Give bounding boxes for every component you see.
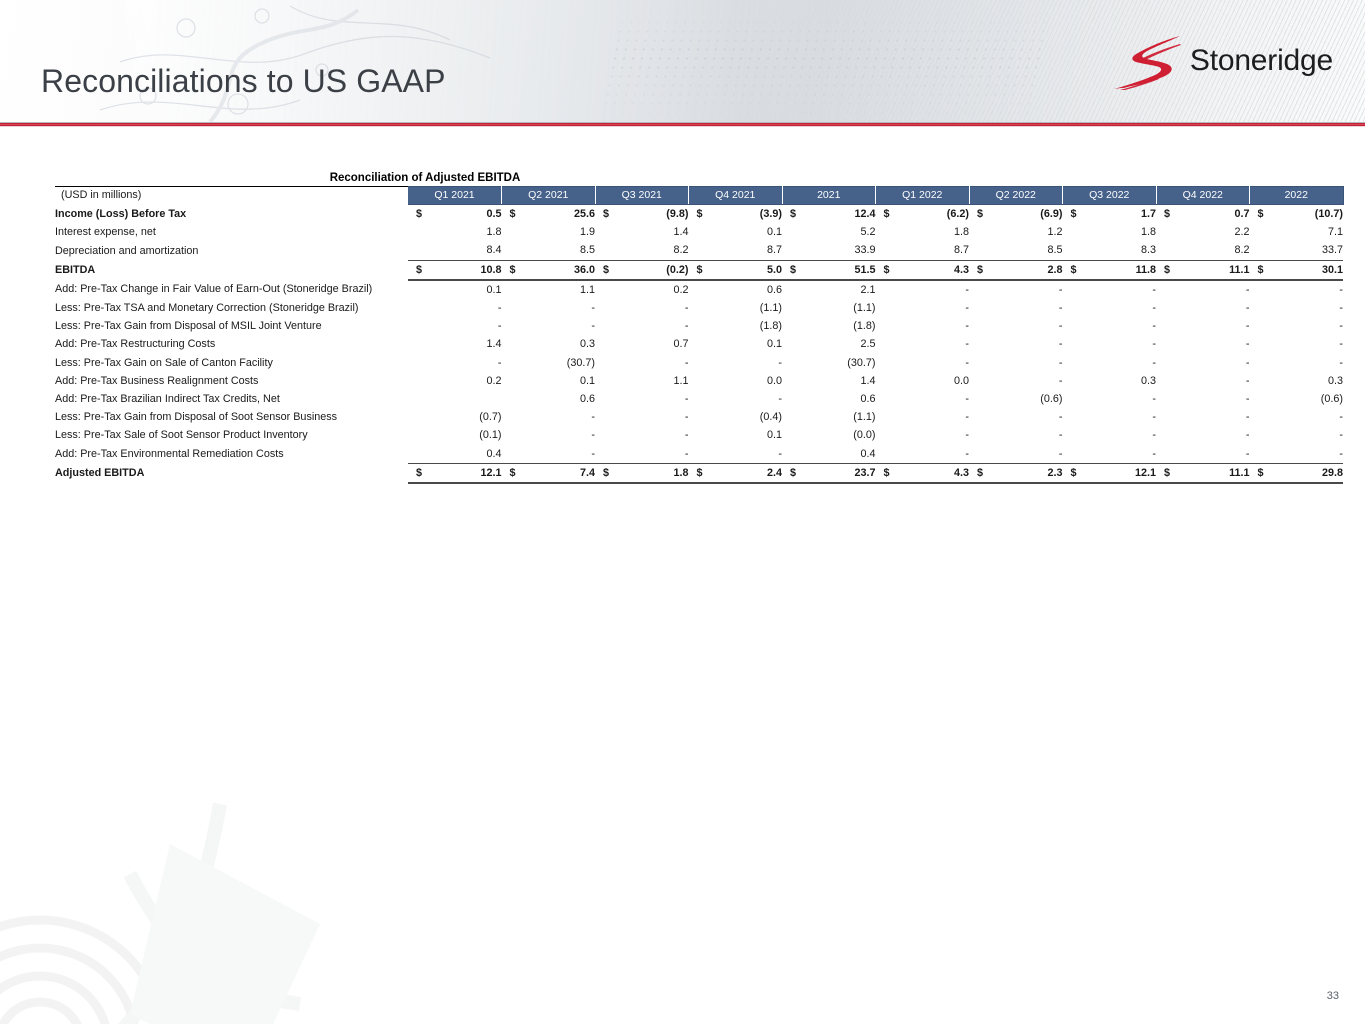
currency-symbol: $ (884, 205, 890, 223)
table-header-row: (USD in millions) Q1 2021Q2 2021Q3 2021Q… (55, 187, 1343, 205)
currency-symbol: $ (1164, 464, 1170, 482)
cell-q1-2022: - (876, 408, 970, 426)
currency-symbol: $ (603, 464, 609, 482)
row-label: Add: Pre-Tax Change in Fair Value of Ear… (55, 280, 408, 299)
cell-q4-2021: - (689, 390, 783, 408)
cell-q1-2021: 0.1 (408, 280, 502, 299)
currency-symbol: $ (416, 205, 422, 223)
cell-2021: 1.4 (782, 372, 876, 390)
currency-symbol: $ (1164, 261, 1170, 279)
column-header-q1-2022: Q1 2022 (876, 187, 970, 205)
cell-q1-2022: - (876, 426, 970, 444)
column-header-q2-2021: Q2 2021 (502, 187, 596, 205)
cell-q3-2022: - (1063, 390, 1157, 408)
table-row: Less: Pre-Tax Gain from Disposal of Soot… (55, 408, 1343, 426)
cell-2022: - (1250, 335, 1344, 353)
row-label: Less: Pre-Tax Gain from Disposal of MSIL… (55, 317, 408, 335)
cell-q4-2021: $5.0 (689, 260, 783, 280)
cell-2021: $51.5 (782, 260, 876, 280)
table-row: Add: Pre-Tax Business Realignment Costs0… (55, 372, 1343, 390)
cell-2021: 5.2 (782, 223, 876, 241)
cell-q3-2021: - (595, 317, 689, 335)
cell-q2-2022: - (969, 445, 1063, 464)
cell-2022: 33.7 (1250, 241, 1344, 260)
cell-q3-2021: 0.2 (595, 280, 689, 299)
cell-q3-2021: 1.1 (595, 372, 689, 390)
cell-q4-2022: 2.2 (1156, 223, 1250, 241)
cell-q2-2022: - (969, 426, 1063, 444)
company-logo: Stoneridge (1110, 33, 1333, 91)
cell-q4-2021: - (689, 445, 783, 464)
cell-q3-2021: 1.4 (595, 223, 689, 241)
row-label: Add: Pre-Tax Brazilian Indirect Tax Cred… (55, 390, 408, 408)
background-watermark-graphic (0, 744, 380, 1024)
cell-q4-2022: - (1156, 445, 1250, 464)
cell-q4-2021: (1.1) (689, 299, 783, 317)
table-row: Add: Pre-Tax Restructuring Costs1.40.30.… (55, 335, 1343, 353)
row-label: Depreciation and amortization (55, 241, 408, 260)
cell-q1-2021 (408, 390, 502, 408)
cell-2021: 2.1 (782, 280, 876, 299)
cell-2022: - (1250, 445, 1344, 464)
cell-q2-2021: 8.5 (502, 241, 596, 260)
table-row: Less: Pre-Tax Gain on Sale of Canton Fac… (55, 354, 1343, 372)
cell-2022: - (1250, 280, 1344, 299)
table-row: Less: Pre-Tax TSA and Monetary Correctio… (55, 299, 1343, 317)
currency-symbol: $ (977, 205, 983, 223)
cell-q2-2022: $2.8 (969, 260, 1063, 280)
cell-q1-2022: $(6.2) (876, 205, 970, 224)
currency-symbol: $ (1071, 205, 1077, 223)
cell-q1-2021: - (408, 299, 502, 317)
currency-symbol: $ (790, 464, 796, 482)
currency-symbol: $ (1071, 261, 1077, 279)
cell-q3-2022: - (1063, 354, 1157, 372)
cell-q1-2021: 8.4 (408, 241, 502, 260)
cell-2022: - (1250, 354, 1344, 372)
ebitda-reconciliation-table: (USD in millions) Q1 2021Q2 2021Q3 2021Q… (55, 186, 1344, 484)
cell-2021: 33.9 (782, 241, 876, 260)
cell-q2-2021: - (502, 408, 596, 426)
cell-2021: 0.4 (782, 445, 876, 464)
cell-q2-2021: 0.6 (502, 390, 596, 408)
cell-q4-2022: - (1156, 354, 1250, 372)
cell-q1-2022: 8.7 (876, 241, 970, 260)
cell-q1-2022: - (876, 335, 970, 353)
row-label: Less: Pre-Tax TSA and Monetary Correctio… (55, 299, 408, 317)
currency-symbol: $ (790, 205, 796, 223)
cell-2021: (30.7) (782, 354, 876, 372)
currency-symbol: $ (1258, 205, 1264, 223)
cell-q1-2021: $10.8 (408, 260, 502, 280)
cell-q2-2021: $7.4 (502, 463, 596, 483)
currency-symbol: $ (697, 205, 703, 223)
cell-q2-2022: - (969, 372, 1063, 390)
cell-q1-2021: 1.8 (408, 223, 502, 241)
currency-symbol: $ (510, 464, 516, 482)
cell-q2-2021: (30.7) (502, 354, 596, 372)
cell-q1-2021: - (408, 354, 502, 372)
cell-q2-2022: (0.6) (969, 390, 1063, 408)
cell-q4-2022: - (1156, 335, 1250, 353)
cell-q2-2022: - (969, 299, 1063, 317)
cell-q1-2022: - (876, 317, 970, 335)
cell-q1-2022: - (876, 280, 970, 299)
cell-q1-2022: - (876, 390, 970, 408)
cell-q3-2022: 0.3 (1063, 372, 1157, 390)
cell-q3-2022: - (1063, 408, 1157, 426)
cell-q4-2021: 0.0 (689, 372, 783, 390)
cell-q2-2021: 0.1 (502, 372, 596, 390)
row-label: Interest expense, net (55, 223, 408, 241)
cell-q3-2021: $(9.8) (595, 205, 689, 224)
cell-q2-2022: - (969, 335, 1063, 353)
cell-q2-2021: - (502, 299, 596, 317)
cell-q1-2022: $4.3 (876, 463, 970, 483)
cell-q4-2021: 0.1 (689, 426, 783, 444)
cell-q2-2022: - (969, 280, 1063, 299)
cell-q4-2021: $2.4 (689, 463, 783, 483)
currency-symbol: $ (603, 261, 609, 279)
table-row: Add: Pre-Tax Environmental Remediation C… (55, 445, 1343, 464)
currency-symbol: $ (697, 261, 703, 279)
currency-symbol: $ (1258, 464, 1264, 482)
cell-q3-2022: - (1063, 317, 1157, 335)
cell-q3-2021: - (595, 299, 689, 317)
cell-q3-2021: $(0.2) (595, 260, 689, 280)
cell-q4-2022: $11.1 (1156, 260, 1250, 280)
cell-q1-2022: - (876, 354, 970, 372)
table-caption: Reconciliation of Adjusted EBITDA (55, 172, 1343, 184)
cell-q1-2022: 1.8 (876, 223, 970, 241)
cell-q4-2021: (1.8) (689, 317, 783, 335)
cell-2021: $23.7 (782, 463, 876, 483)
cell-q3-2021: - (595, 390, 689, 408)
cell-q3-2022: 1.8 (1063, 223, 1157, 241)
header-accent-rule (0, 122, 1365, 127)
currency-symbol: $ (1071, 464, 1077, 482)
cell-q2-2021: 1.9 (502, 223, 596, 241)
cell-q4-2021: $(3.9) (689, 205, 783, 224)
cell-q1-2021: 0.2 (408, 372, 502, 390)
cell-2022: - (1250, 299, 1344, 317)
cell-q1-2021: $12.1 (408, 463, 502, 483)
cell-q1-2021: (0.7) (408, 408, 502, 426)
cell-q4-2021: 8.7 (689, 241, 783, 260)
cell-q2-2022: $(6.9) (969, 205, 1063, 224)
cell-q4-2022: $0.7 (1156, 205, 1250, 224)
currency-symbol: $ (416, 464, 422, 482)
cell-2022: $(10.7) (1250, 205, 1344, 224)
row-label: Less: Pre-Tax Sale of Soot Sensor Produc… (55, 426, 408, 444)
column-header-q4-2021: Q4 2021 (689, 187, 783, 205)
cell-q2-2021: $25.6 (502, 205, 596, 224)
row-label: Add: Pre-Tax Restructuring Costs (55, 335, 408, 353)
cell-2021: (0.0) (782, 426, 876, 444)
cell-q3-2022: - (1063, 445, 1157, 464)
cell-2021: (1.8) (782, 317, 876, 335)
cell-q1-2021: (0.1) (408, 426, 502, 444)
currency-symbol: $ (790, 261, 796, 279)
logo-wordmark: Stoneridge (1190, 46, 1333, 78)
currency-symbol: $ (510, 261, 516, 279)
header-dotgrid-graphic (598, 0, 1052, 122)
row-label: Adjusted EBITDA (55, 463, 408, 483)
column-header-q2-2022: Q2 2022 (969, 187, 1063, 205)
cell-q4-2022: - (1156, 426, 1250, 444)
cell-q2-2022: - (969, 317, 1063, 335)
cell-2022: - (1250, 408, 1344, 426)
cell-q4-2022: - (1156, 372, 1250, 390)
cell-2022: - (1250, 317, 1344, 335)
currency-symbol: $ (697, 464, 703, 482)
cell-q3-2021: - (595, 354, 689, 372)
cell-q2-2021: - (502, 317, 596, 335)
cell-q1-2022: 0.0 (876, 372, 970, 390)
currency-symbol: $ (603, 205, 609, 223)
currency-symbol: $ (416, 261, 422, 279)
cell-q3-2022: - (1063, 335, 1157, 353)
header-circuit-graphic (90, 0, 650, 122)
cell-2022: $29.8 (1250, 463, 1344, 483)
cell-2021: (1.1) (782, 299, 876, 317)
cell-q3-2022: $1.7 (1063, 205, 1157, 224)
row-label: Income (Loss) Before Tax (55, 205, 408, 224)
row-label: Add: Pre-Tax Environmental Remediation C… (55, 445, 408, 464)
currency-symbol: $ (977, 261, 983, 279)
cell-q2-2021: - (502, 426, 596, 444)
cell-2021: 2.5 (782, 335, 876, 353)
column-header-q1-2021: Q1 2021 (408, 187, 502, 205)
row-label: Less: Pre-Tax Gain from Disposal of Soot… (55, 408, 408, 426)
table-row: Less: Pre-Tax Sale of Soot Sensor Produc… (55, 426, 1343, 444)
cell-q3-2022: - (1063, 280, 1157, 299)
cell-q4-2021: (0.4) (689, 408, 783, 426)
cell-q4-2022: $11.1 (1156, 463, 1250, 483)
row-label: EBITDA (55, 260, 408, 280)
cell-q2-2022: - (969, 354, 1063, 372)
cell-2022: $30.1 (1250, 260, 1344, 280)
header-sweep-graphic (121, 0, 1259, 122)
ebitda-reconciliation-table-wrap: Reconciliation of Adjusted EBITDA (USD i… (55, 172, 1343, 484)
cell-q2-2021: $36.0 (502, 260, 596, 280)
cell-q1-2021: 0.4 (408, 445, 502, 464)
cell-q3-2021: - (595, 408, 689, 426)
cell-q3-2021: 0.7 (595, 335, 689, 353)
page-title: Reconciliations to US GAAP (41, 63, 446, 100)
table-row: Depreciation and amortization8.48.58.28.… (55, 241, 1343, 260)
column-header-q3-2021: Q3 2021 (595, 187, 689, 205)
table-row: Add: Pre-Tax Brazilian Indirect Tax Cred… (55, 390, 1343, 408)
row-label: Less: Pre-Tax Gain on Sale of Canton Fac… (55, 354, 408, 372)
cell-q4-2022: - (1156, 299, 1250, 317)
cell-q2-2021: 1.1 (502, 280, 596, 299)
table-row: Adjusted EBITDA$12.1$7.4$1.8$2.4$23.7$4.… (55, 463, 1343, 483)
cell-q4-2021: 0.6 (689, 280, 783, 299)
cell-q1-2021: 1.4 (408, 335, 502, 353)
currency-symbol: $ (510, 205, 516, 223)
cell-q1-2021: $0.5 (408, 205, 502, 224)
cell-2022: 0.3 (1250, 372, 1344, 390)
cell-q3-2022: $11.8 (1063, 260, 1157, 280)
cell-q2-2022: 1.2 (969, 223, 1063, 241)
cell-q2-2022: 8.5 (969, 241, 1063, 260)
currency-symbol: $ (884, 261, 890, 279)
cell-q2-2021: 0.3 (502, 335, 596, 353)
cell-2022: 7.1 (1250, 223, 1344, 241)
cell-2021: $12.4 (782, 205, 876, 224)
cell-q4-2022: - (1156, 390, 1250, 408)
cell-q2-2022: $2.3 (969, 463, 1063, 483)
cell-q1-2022: - (876, 299, 970, 317)
cell-q3-2021: $1.8 (595, 463, 689, 483)
table-row: EBITDA$10.8$36.0$(0.2)$5.0$51.5$4.3$2.8$… (55, 260, 1343, 280)
cell-q4-2022: 8.2 (1156, 241, 1250, 260)
cell-q4-2021: 0.1 (689, 223, 783, 241)
column-header-q4-2022: Q4 2022 (1156, 187, 1250, 205)
cell-q4-2022: - (1156, 408, 1250, 426)
cell-q4-2022: - (1156, 317, 1250, 335)
table-row: Add: Pre-Tax Change in Fair Value of Ear… (55, 280, 1343, 299)
page-number: 33 (1327, 990, 1339, 1002)
cell-q2-2021: - (502, 445, 596, 464)
stoneridge-s-mark-icon (1110, 34, 1184, 90)
column-header-2021: 2021 (782, 187, 876, 205)
cell-q1-2022: - (876, 445, 970, 464)
currency-symbol: $ (1164, 205, 1170, 223)
cell-q3-2022: $12.1 (1063, 463, 1157, 483)
cell-q2-2022: - (969, 408, 1063, 426)
cell-2021: 0.6 (782, 390, 876, 408)
currency-symbol: $ (1258, 261, 1264, 279)
slide-canvas: Reconciliations to US GAAP Stoneridge Re… (0, 0, 1365, 1024)
cell-q3-2022: - (1063, 426, 1157, 444)
cell-q3-2022: 8.3 (1063, 241, 1157, 260)
table-row: Income (Loss) Before Tax$0.5$25.6$(9.8)$… (55, 205, 1343, 224)
cell-q3-2022: - (1063, 299, 1157, 317)
cell-q1-2022: $4.3 (876, 260, 970, 280)
table-row: Less: Pre-Tax Gain from Disposal of MSIL… (55, 317, 1343, 335)
column-header-2022: 2022 (1250, 187, 1344, 205)
cell-q3-2021: - (595, 426, 689, 444)
cell-q4-2022: - (1156, 280, 1250, 299)
cell-2022: - (1250, 426, 1344, 444)
row-label: Add: Pre-Tax Business Realignment Costs (55, 372, 408, 390)
cell-q1-2021: - (408, 317, 502, 335)
cell-q4-2021: - (689, 354, 783, 372)
cell-2021: (1.1) (782, 408, 876, 426)
currency-symbol: $ (977, 464, 983, 482)
currency-symbol: $ (884, 464, 890, 482)
table-body: Income (Loss) Before Tax$0.5$25.6$(9.8)$… (55, 205, 1343, 484)
column-header-label: (USD in millions) (55, 187, 408, 205)
table-head: (USD in millions) Q1 2021Q2 2021Q3 2021Q… (55, 187, 1343, 205)
column-header-q3-2022: Q3 2022 (1063, 187, 1157, 205)
table-row: Interest expense, net1.81.91.40.15.21.81… (55, 223, 1343, 241)
cell-q3-2021: - (595, 445, 689, 464)
cell-2022: (0.6) (1250, 390, 1344, 408)
cell-q3-2021: 8.2 (595, 241, 689, 260)
cell-q4-2021: 0.1 (689, 335, 783, 353)
